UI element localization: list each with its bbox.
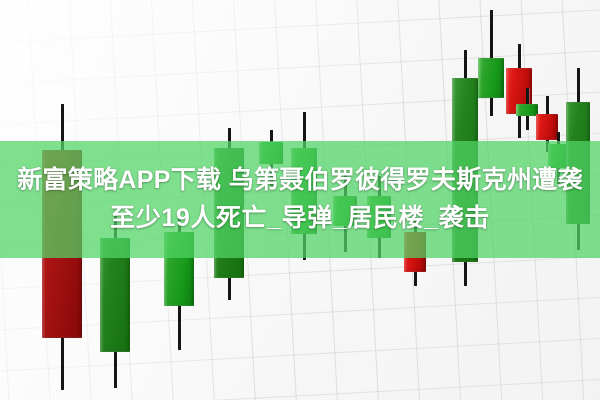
candle-body-up <box>478 58 504 98</box>
candle-body-up <box>516 104 538 116</box>
headline-banner-band <box>0 141 600 258</box>
thumbnail-canvas: 新富策略APP下载 乌第聂伯罗彼得罗夫斯克州遭袭 至少19人死亡_导弹_居民楼_… <box>0 0 600 400</box>
banner-tint <box>0 141 600 258</box>
